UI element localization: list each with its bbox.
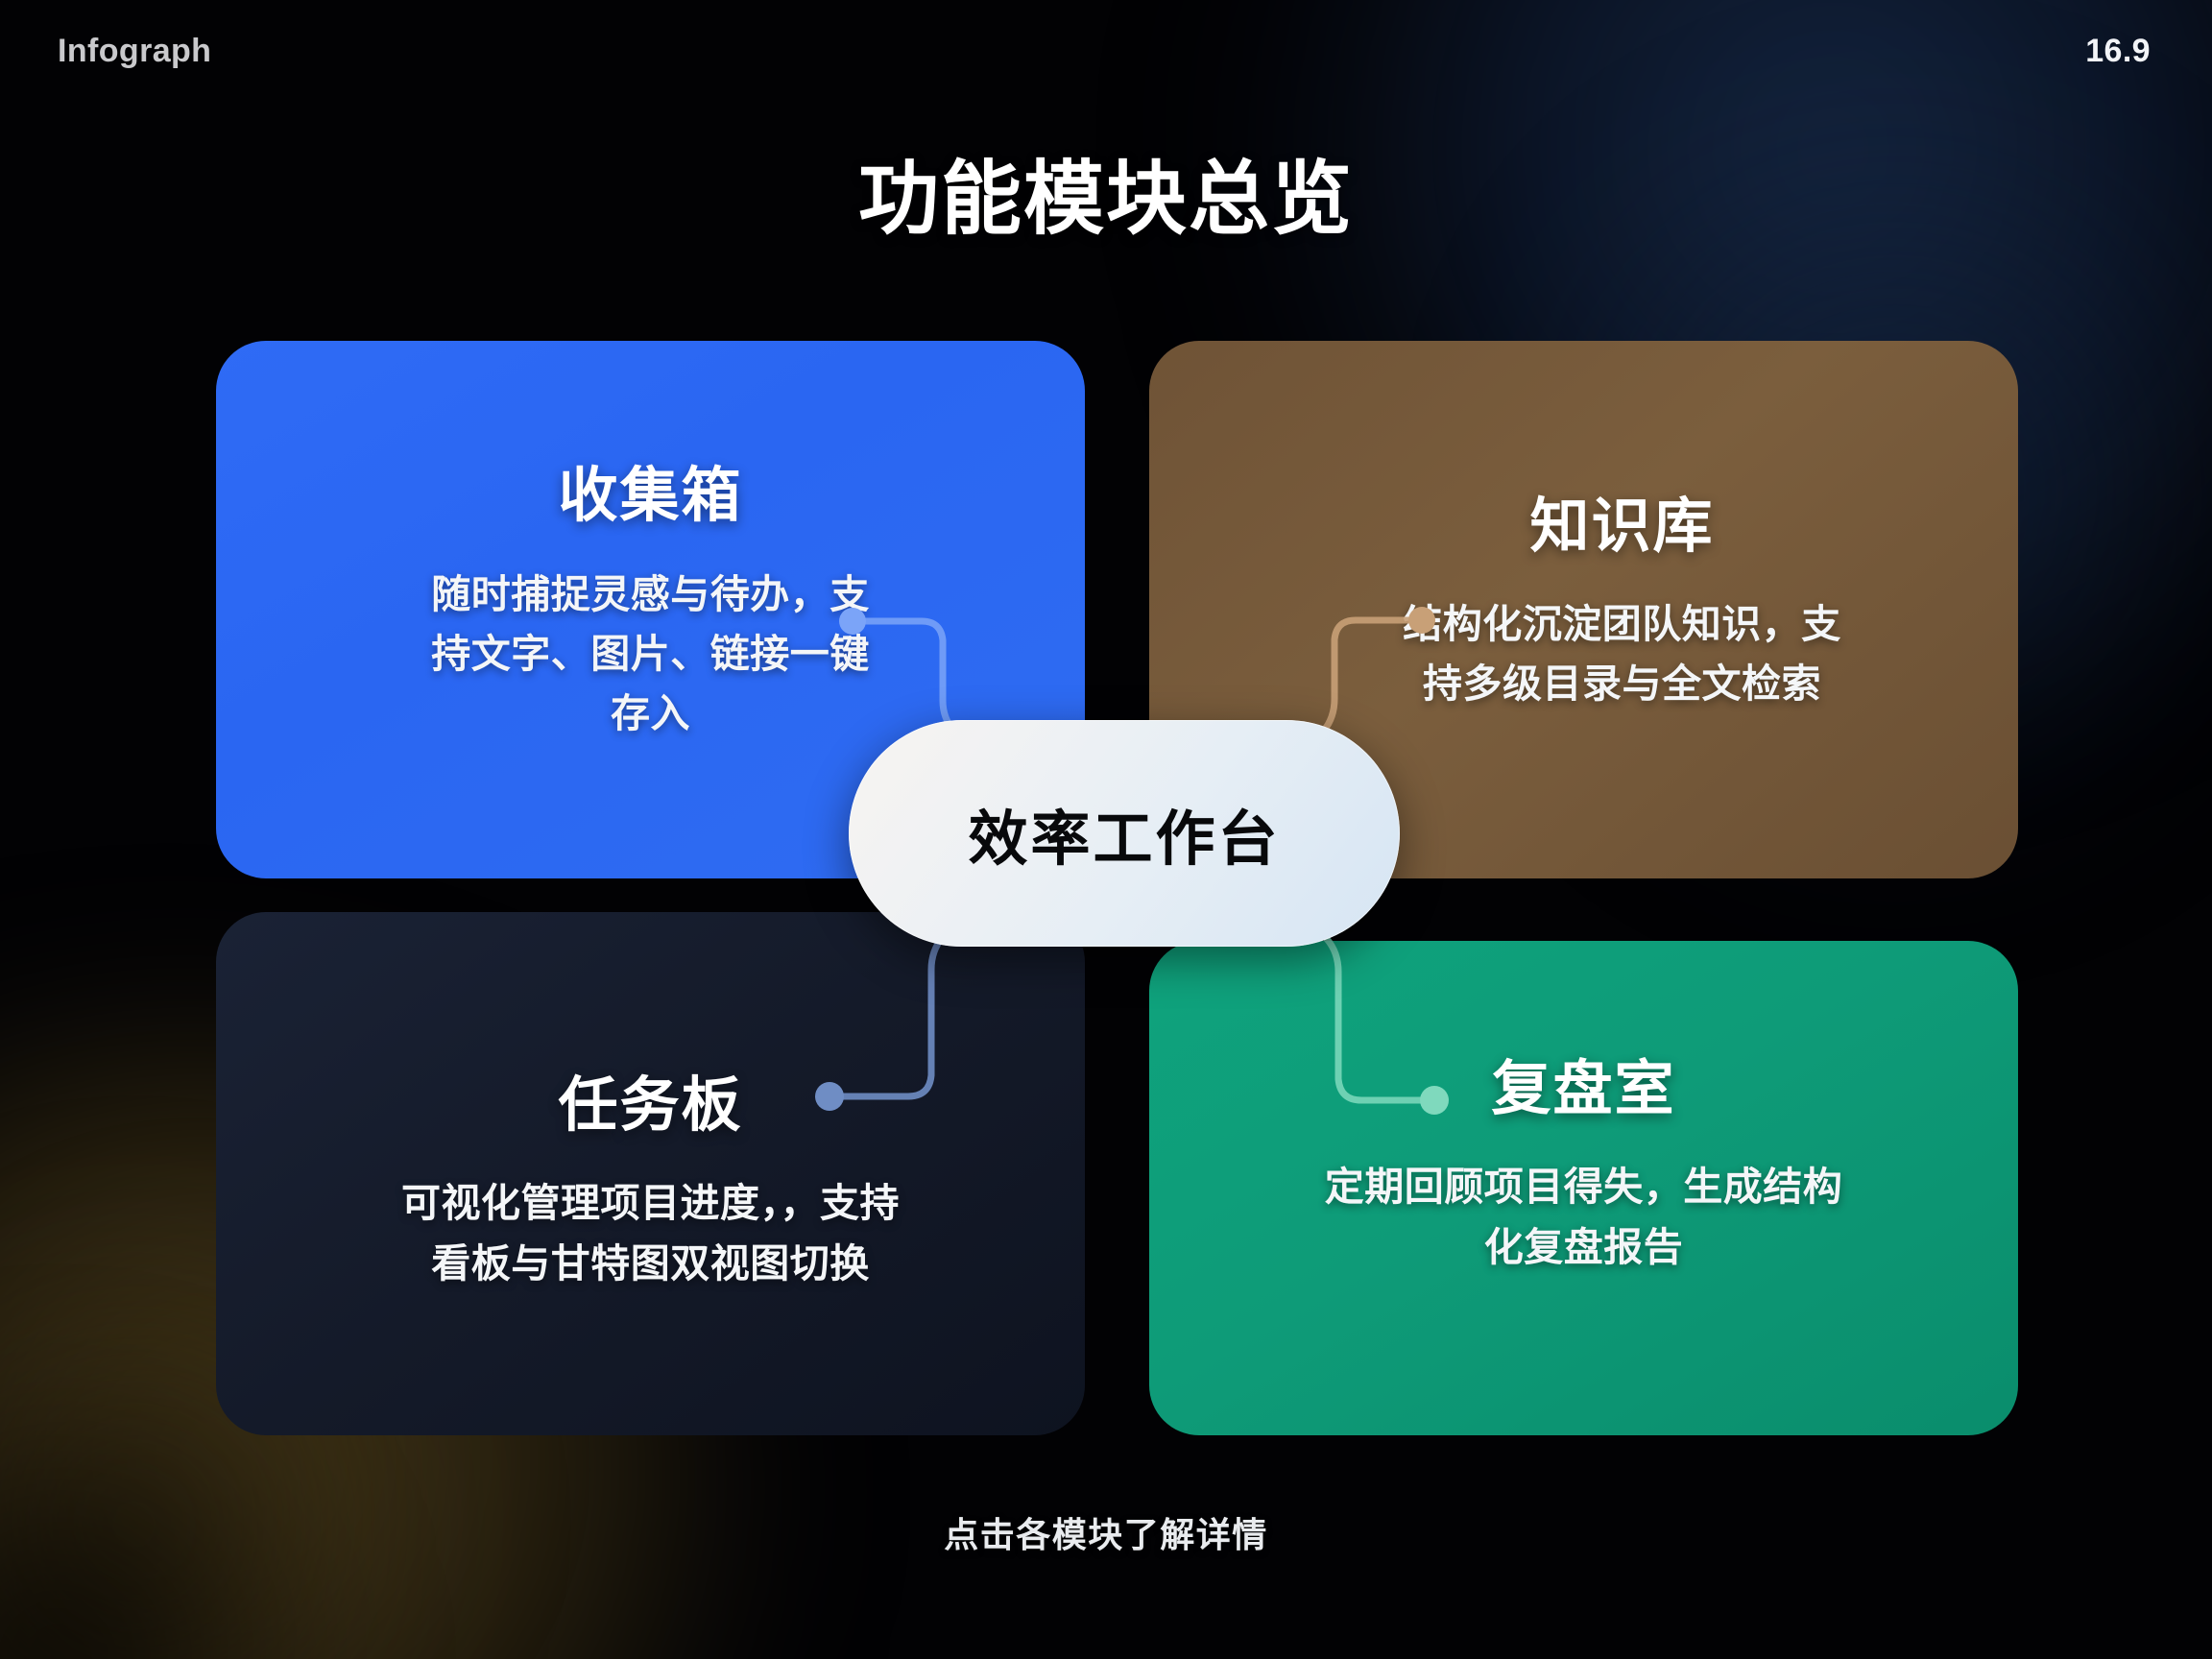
module-card-retrospective-room[interactable]: 复盘室 定期回顾项目得失，生成结构化复盘报告: [1149, 941, 2018, 1435]
aspect-ratio-label: 16.9: [2085, 33, 2151, 70]
module-card-content: 收集箱 随时捕捉灵感与待办，支持文字、图片、链接一键存入: [216, 464, 1085, 743]
module-description: 定期回顾项目得失，生成结构化复盘报告: [1325, 1157, 1843, 1277]
module-description: 随时捕捉灵感与待办，支持文字、图片、链接一键存入: [425, 565, 877, 744]
footer-hint: 点击各模块了解详情: [0, 1507, 2212, 1557]
module-title: 知识库: [1529, 494, 1714, 560]
module-description: 结构化沉淀团队知识，支持多级目录与全文检索: [1397, 594, 1848, 714]
center-hub-pill[interactable]: 效率工作台: [849, 720, 1400, 947]
center-hub-label: 效率工作台: [968, 790, 1280, 877]
module-description: 可视化管理项目进度，，支持看板与甘特图双视图切换: [401, 1173, 901, 1293]
brand-label: Infograph: [58, 33, 211, 70]
module-title: 收集箱: [558, 464, 742, 529]
page-title: 功能模块总览: [0, 134, 2212, 251]
module-card-content: 复盘室 定期回顾项目得失，生成结构化复盘报告: [1149, 1057, 2018, 1277]
module-title: 复盘室: [1491, 1057, 1675, 1122]
module-title: 任务板: [558, 1073, 742, 1139]
module-card-content: 任务板 可视化管理项目进度，，支持看板与甘特图双视图切换: [216, 1073, 1085, 1293]
module-card-content: 知识库 结构化沉淀团队知识，支持多级目录与全文检索: [1188, 494, 2018, 714]
module-card-task-board[interactable]: 任务板 可视化管理项目进度，，支持看板与甘特图双视图切换: [216, 912, 1085, 1435]
